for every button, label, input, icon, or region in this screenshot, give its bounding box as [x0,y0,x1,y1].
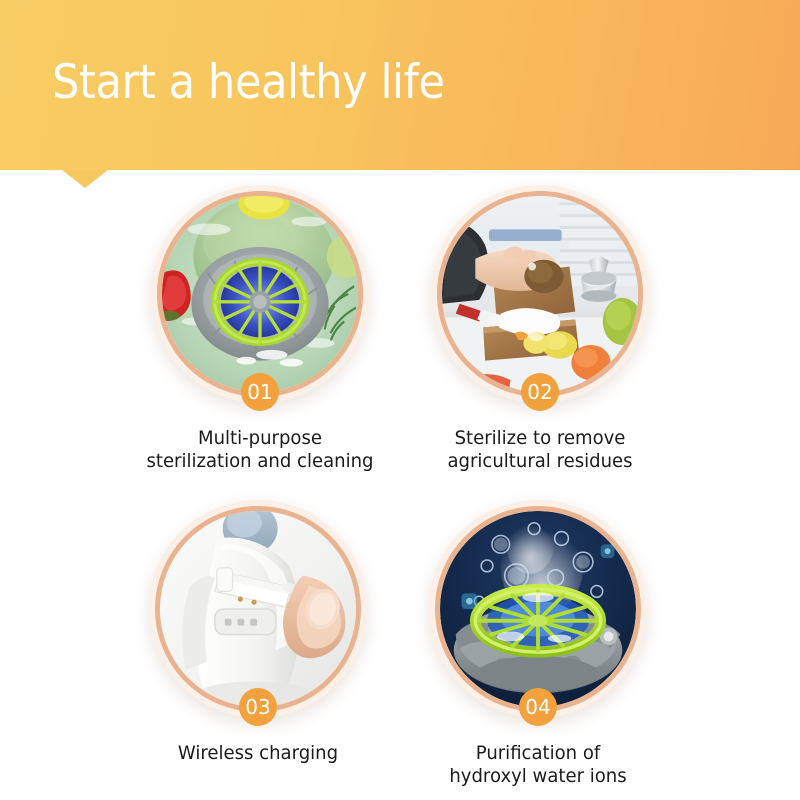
circle-ring-04 [435,506,641,712]
circle-ring-02 [437,191,643,397]
feature-badge-03: 03 [239,688,277,726]
circle-ring-03 [155,506,361,712]
feature-card-01[interactable]: 01 Multi-purpose sterilization and clean… [130,185,390,473]
feature-badge-01: 01 [241,373,279,411]
sterilizer-in-basin-with-vegetables-photo [162,196,358,392]
magnetic-charging-cable-photo [160,511,356,707]
feature-caption-02: Sterilize to remove agricultural residue… [417,427,664,473]
feature-card-03[interactable]: 03 Wireless charging [128,500,388,765]
feature-badge-02: 02 [521,373,559,411]
feature-caption-03: Wireless charging [135,742,382,765]
feature-caption-01: Multi-purpose sterilization and cleaning [137,427,384,473]
feature-image-wrap-04: 04 [429,500,647,718]
feature-caption-04: Purification of hydroxyl water ions [415,742,662,788]
circle-ring-01 [157,191,363,397]
kitchen-cutting-fruit-photo [442,196,638,392]
feature-grid: 01 Multi-purpose sterilization and clean… [0,170,800,800]
feature-card-02[interactable]: 02 Sterilize to remove agricultural resi… [410,185,670,473]
feature-image-wrap-02: 02 [431,185,649,403]
feature-image-wrap-01: 01 [151,185,369,403]
page-title: Start a healthy life [52,55,444,111]
header-banner: Start a healthy life [0,0,800,170]
feature-badge-04: 04 [519,688,557,726]
device-underwater-bubbles-photo [440,511,636,707]
feature-card-04[interactable]: 04 Purification of hydroxyl water ions [408,500,668,788]
feature-image-wrap-03: 03 [149,500,367,718]
